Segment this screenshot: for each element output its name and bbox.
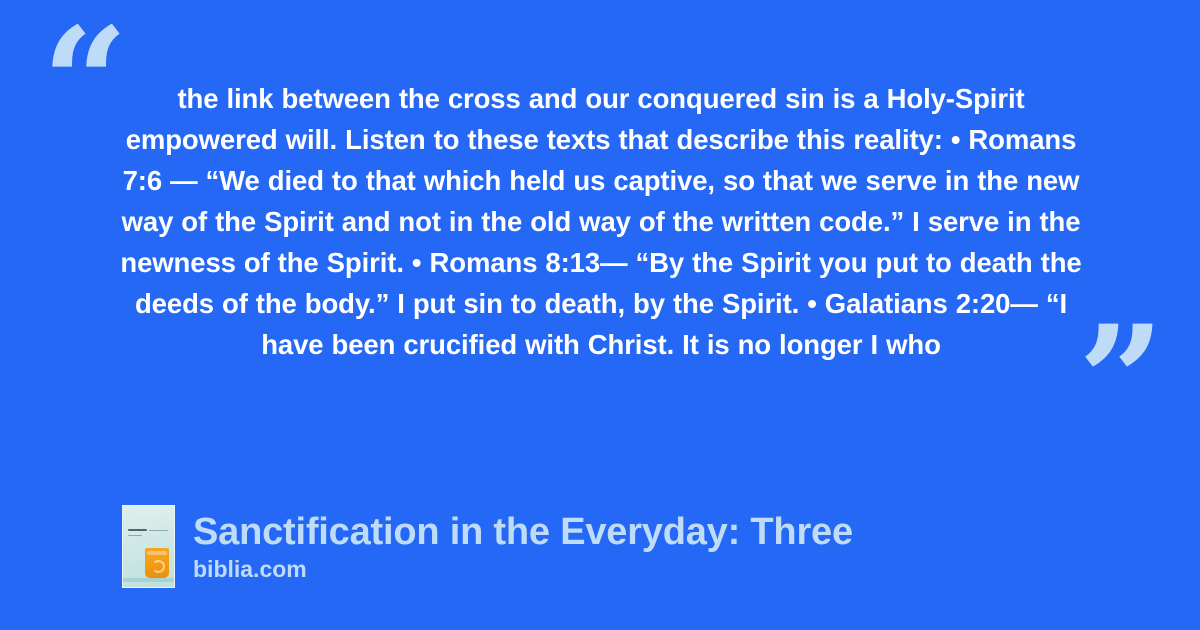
footer: Sanctification in the Everyday: Three bi… [122, 505, 853, 588]
footer-text-group: Sanctification in the Everyday: Three bi… [193, 510, 853, 583]
closing-quote-mark: ” [1078, 306, 1164, 456]
quote-card: “ the link between the cross and our con… [0, 0, 1200, 630]
article-title[interactable]: Sanctification in the Everyday: Three [193, 510, 853, 554]
cover-glass-icon [145, 548, 169, 578]
cover-shelf-band [123, 578, 174, 582]
site-name[interactable]: biblia.com [193, 555, 853, 583]
quote-text: the link between the cross and our conqu… [118, 78, 1084, 365]
opening-quote-mark: “ [42, 8, 128, 158]
cover-subtitle-text [149, 530, 168, 531]
cover-title-text [128, 529, 147, 531]
cover-author-text [128, 535, 142, 536]
book-cover-thumbnail[interactable] [122, 505, 175, 588]
